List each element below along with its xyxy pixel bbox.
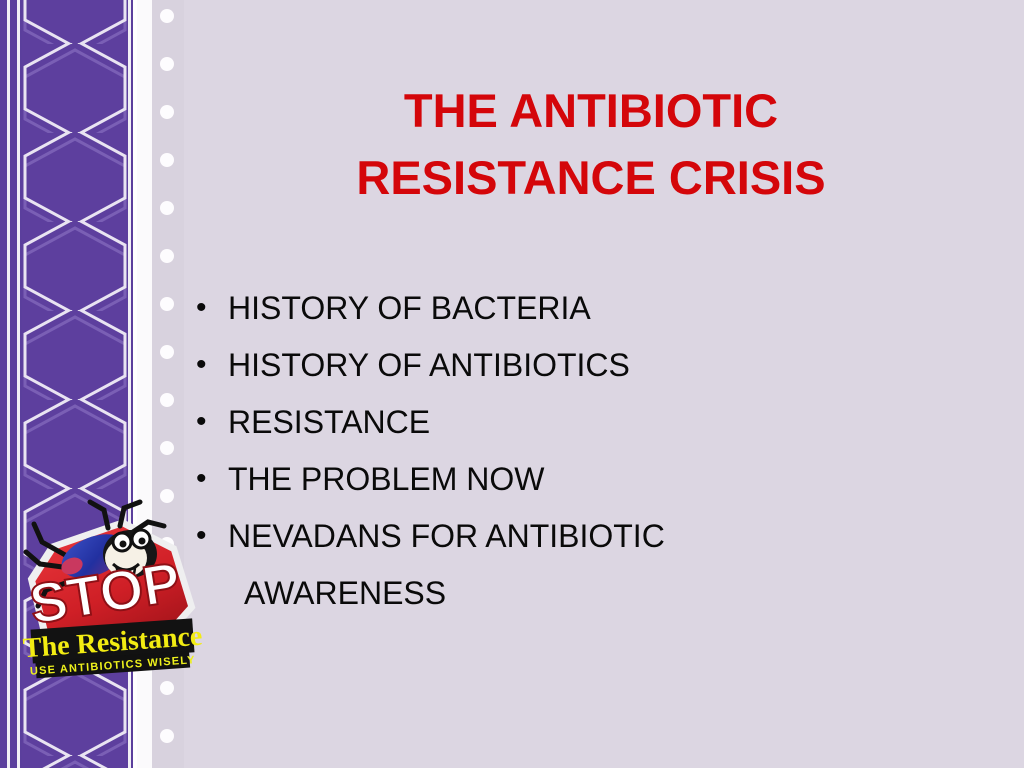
logo-artwork: STOP The Resistance USE ANTIBIOTICS WISE… <box>12 498 212 694</box>
decorative-dot <box>160 441 174 455</box>
list-item-label: AWARENESS <box>226 573 446 613</box>
hexagon-cell <box>22 310 128 399</box>
bullet-marker-icon: • <box>196 288 226 328</box>
list-item-label: RESISTANCE <box>226 402 430 442</box>
title-line-1: THE ANTIBIOTIC <box>196 78 986 145</box>
bullet-marker-icon: • <box>196 402 226 442</box>
decorative-dot <box>160 201 174 215</box>
list-item: •THE PROBLEM NOW <box>196 459 896 516</box>
list-item: •RESISTANCE <box>196 402 896 459</box>
bullet-marker-icon: • <box>196 345 226 385</box>
decorative-dot <box>160 153 174 167</box>
slide-canvas: THE ANTIBIOTIC RESISTANCE CRISIS •HISTOR… <box>0 0 1024 768</box>
decorative-dot <box>160 345 174 359</box>
decorative-dot <box>160 393 174 407</box>
decorative-dot <box>160 297 174 311</box>
decorative-dot <box>160 105 174 119</box>
decorative-dot <box>160 57 174 71</box>
decorative-dot <box>160 249 174 263</box>
list-item: •NEVADANS FOR ANTIBIOTIC <box>196 516 896 573</box>
stop-the-resistance-logo: STOP The Resistance USE ANTIBIOTICS WISE… <box>12 498 212 694</box>
list-item: •AWARENESS <box>196 573 896 630</box>
hexagon-cell <box>22 132 128 221</box>
decorative-dot <box>160 729 174 743</box>
border-stripe-1 <box>7 0 10 768</box>
hexagon-cell <box>22 399 128 488</box>
list-item: •HISTORY OF BACTERIA <box>196 288 896 345</box>
bullet-marker-icon: • <box>196 459 226 499</box>
list-item: •HISTORY OF ANTIBIOTICS <box>196 345 896 402</box>
hexagon-cell <box>22 755 128 768</box>
agenda-bullet-list: •HISTORY OF BACTERIA•HISTORY OF ANTIBIOT… <box>196 288 896 630</box>
hexagon-cell <box>22 43 128 132</box>
list-item-label: HISTORY OF BACTERIA <box>226 288 591 328</box>
decorative-dot <box>160 9 174 23</box>
hexagon-cell <box>22 0 128 43</box>
list-item-label: NEVADANS FOR ANTIBIOTIC <box>226 516 665 556</box>
title-line-2: RESISTANCE CRISIS <box>196 145 986 212</box>
page-title: THE ANTIBIOTIC RESISTANCE CRISIS <box>196 78 986 211</box>
list-item-label: HISTORY OF ANTIBIOTICS <box>226 345 630 385</box>
list-item-label: THE PROBLEM NOW <box>226 459 544 499</box>
hexagon-cell <box>22 221 128 310</box>
